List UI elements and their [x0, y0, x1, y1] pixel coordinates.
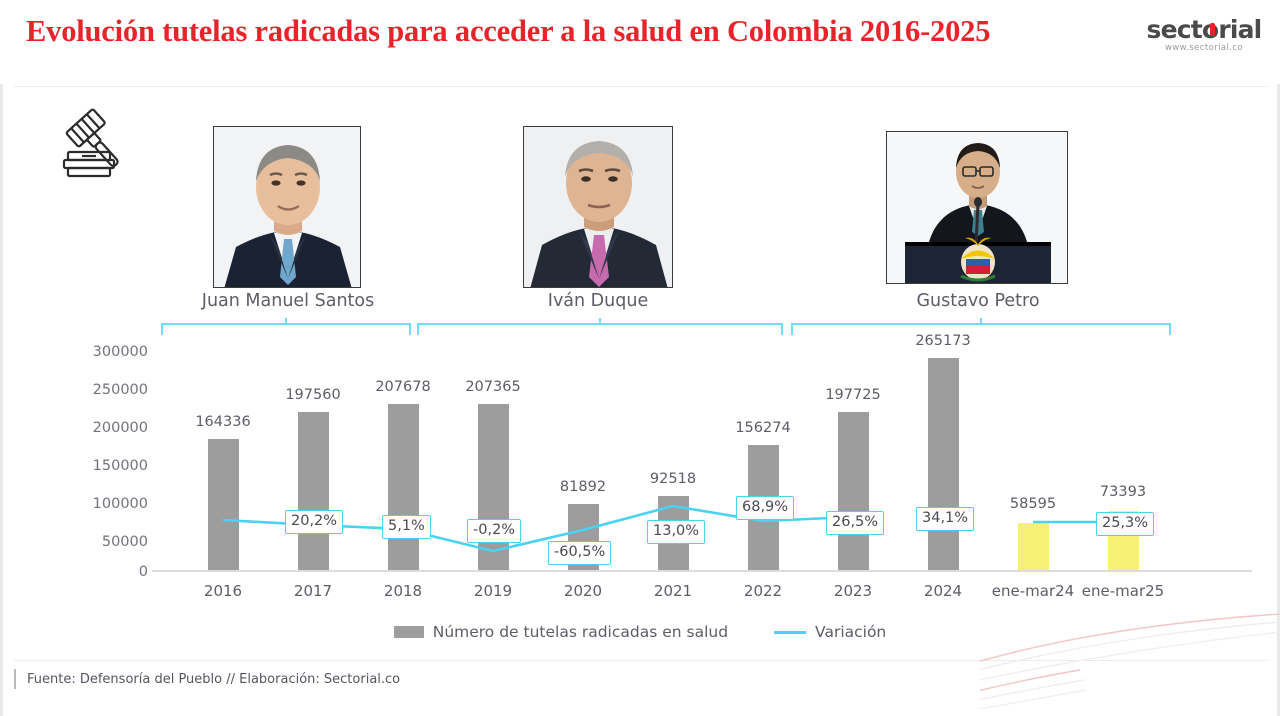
sectorial-logo: sectorial www.sectorial.co [1142, 16, 1266, 66]
y-tick-200000: 200000 [93, 420, 148, 436]
logo-accent-mark [1210, 23, 1215, 36]
page-title: Evolución tutelas radicadas para acceder… [26, 14, 990, 49]
slide-root: Evolución tutelas radicadas para acceder… [0, 0, 1280, 716]
y-tick-300000: 300000 [93, 344, 148, 360]
y-tick-100000: 100000 [93, 496, 148, 512]
logo-wordmark-text: sectorial [1147, 15, 1262, 44]
juan-manuel-santos-photo [213, 126, 361, 288]
plot-area: 164336 197560 207678 207365 81892 92518 … [152, 330, 1257, 570]
variation-label-2019: -0,2% [467, 519, 521, 543]
legend-bars-label: Número de tutelas radicadas en salud [433, 623, 728, 641]
logo-wordmark: sectorial [1147, 16, 1262, 44]
y-axis: 300000 250000 200000 150000 100000 50000… [60, 330, 148, 580]
variation-label-2020: -60,5% [548, 541, 611, 565]
legend-bar-swatch-icon [394, 626, 424, 638]
y-tick-0: 0 [139, 564, 148, 580]
footer-source: Fuente: Defensoría del Pueblo // Elabora… [14, 666, 400, 692]
footer-accent-bar [14, 669, 16, 689]
variation-label-2017: 20,2% [285, 510, 343, 534]
legend-item-line: Variación [774, 623, 886, 641]
logo-url-text: www.sectorial.co [1142, 43, 1266, 53]
president-name-santos: Juan Manuel Santos [190, 291, 386, 311]
y-tick-250000: 250000 [93, 382, 148, 398]
x-tick-ene-mar25: ene-mar25 [1063, 582, 1183, 600]
header-divider [14, 86, 1267, 87]
legend-line-label: Variación [815, 623, 886, 641]
variation-label-ene-mar25: 25,3% [1096, 512, 1154, 536]
header-bar: Evolución tutelas radicadas para acceder… [0, 0, 1280, 84]
president-name-duque: Iván Duque [500, 291, 696, 311]
gustavo-petro-photo [886, 131, 1068, 284]
y-tick-50000: 50000 [102, 534, 148, 550]
variation-label-2024: 34,1% [916, 507, 974, 531]
variation-label-2022: 68,9% [736, 496, 794, 520]
footer-source-text: Fuente: Defensoría del Pueblo // Elabora… [27, 672, 400, 687]
gavel-books-icon [44, 108, 126, 182]
ivan-duque-photo [523, 126, 673, 288]
legend-line-swatch-icon [774, 631, 806, 634]
decorative-curves [980, 606, 1280, 716]
variation-label-2021: 13,0% [647, 520, 705, 544]
variation-label-2023: 26,5% [826, 511, 884, 535]
variation-label-2018: 5,1% [382, 515, 431, 539]
legend-item-bars: Número de tutelas radicadas en salud [394, 623, 728, 641]
president-name-petro: Gustavo Petro [880, 291, 1076, 311]
tutelas-chart: 300000 250000 200000 150000 100000 50000… [0, 330, 1280, 620]
y-tick-150000: 150000 [93, 458, 148, 474]
